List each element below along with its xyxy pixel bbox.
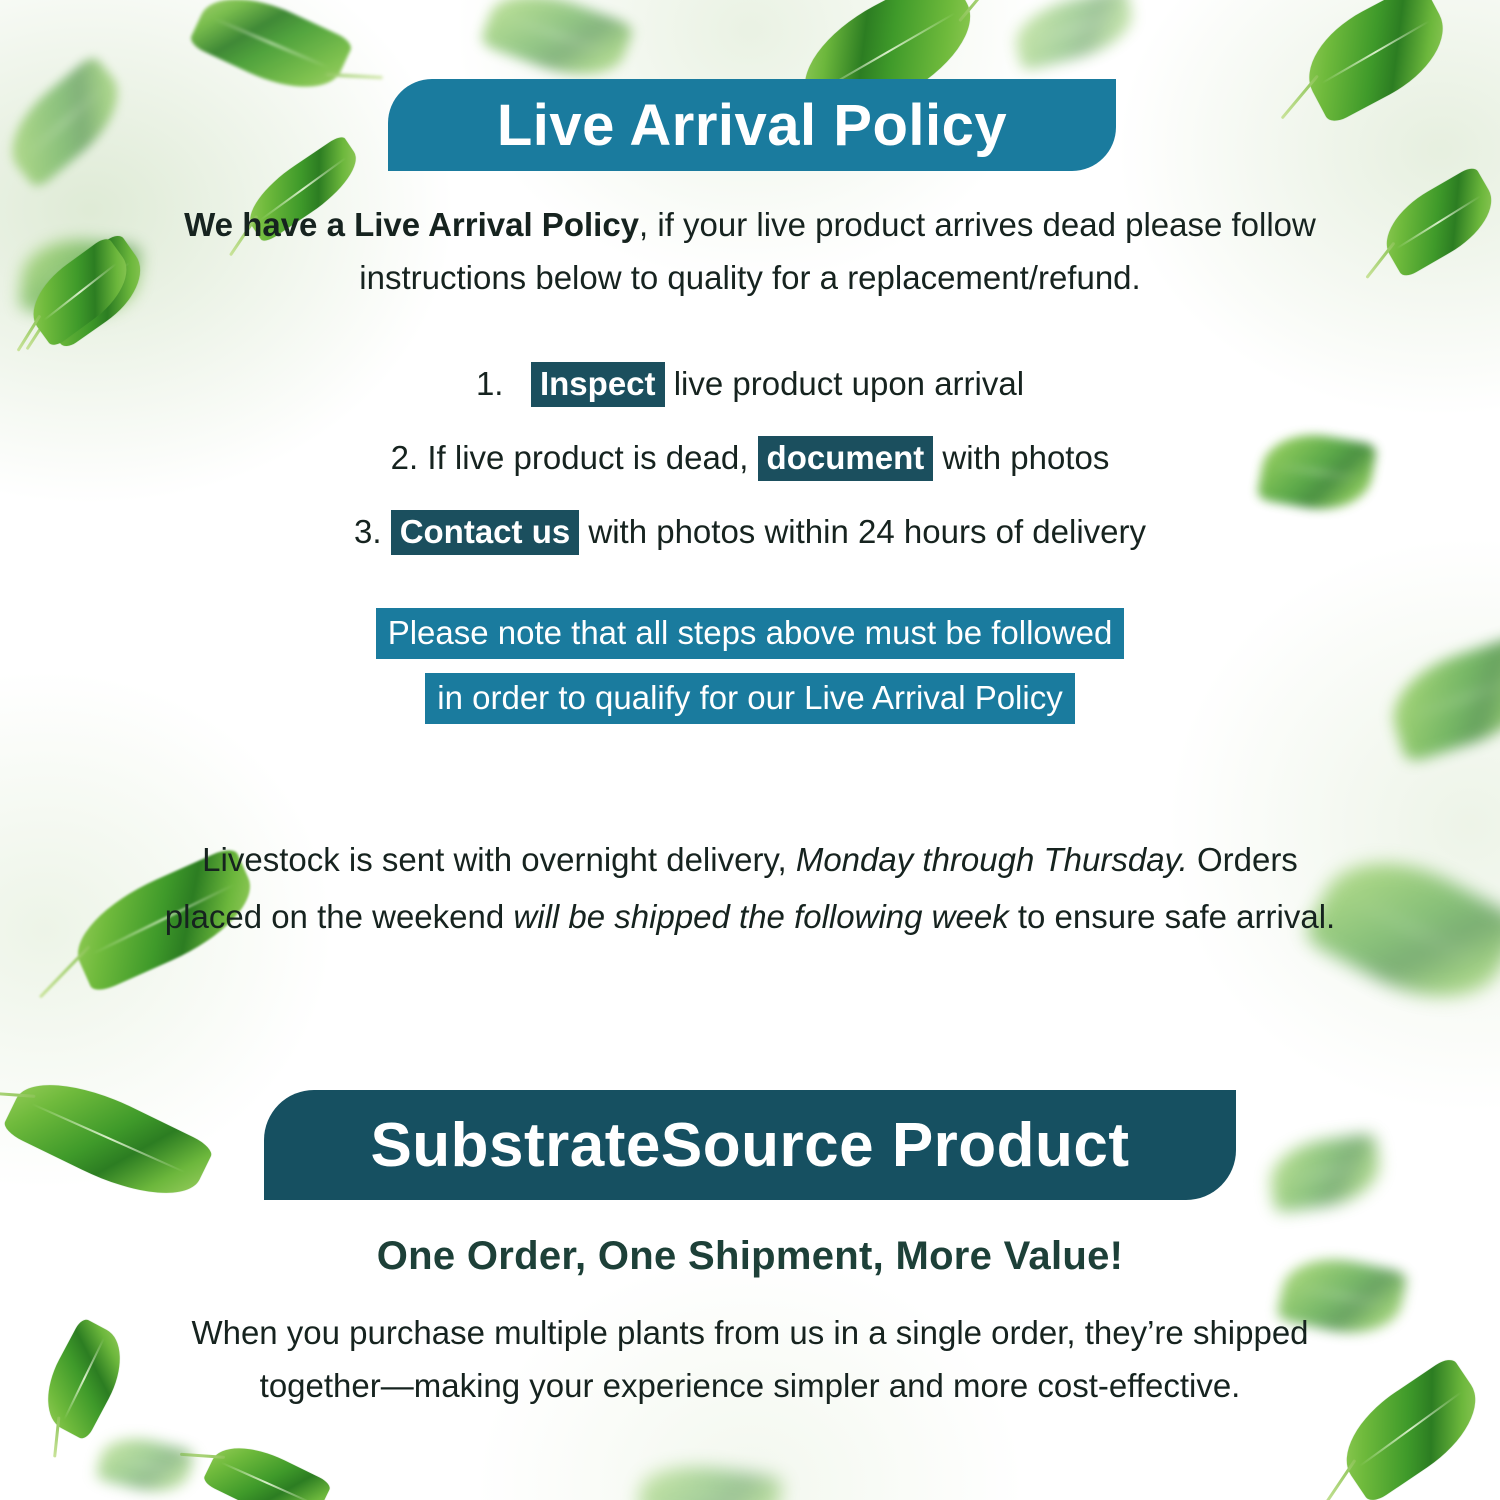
step-number: 1.: [476, 365, 504, 402]
step-highlight-document: document: [758, 436, 934, 481]
live-arrival-policy-banner: Live Arrival Policy: [388, 79, 1116, 171]
step-text: live product upon arrival: [674, 365, 1024, 402]
note-line-1: Please note that all steps above must be…: [376, 608, 1125, 659]
policy-document: Live Arrival Policy We have a Live Arriv…: [0, 0, 1500, 1500]
step-number: 3.: [354, 513, 382, 550]
livestock-text-3: to ensure safe arrival.: [1009, 898, 1336, 935]
product-tagline: One Order, One Shipment, More Value!: [0, 1234, 1500, 1279]
list-item: 3. Contact us with photos within 24 hour…: [0, 510, 1500, 555]
substratesource-product-title: SubstrateSource Product: [370, 1110, 1129, 1181]
substratesource-product-banner: SubstrateSource Product: [264, 1090, 1236, 1200]
note-line-2-wrap: in order to qualify for our Live Arrival…: [0, 673, 1500, 724]
step-highlight-contact-us[interactable]: Contact us: [391, 510, 580, 555]
live-arrival-policy-title: Live Arrival Policy: [497, 92, 1007, 159]
policy-note-block: Please note that all steps above must be…: [0, 608, 1500, 738]
steps-list: 1. Inspect live product upon arrival 2. …: [0, 362, 1500, 584]
step-highlight-inspect: Inspect: [531, 362, 665, 407]
list-item: 2. If live product is dead, document wit…: [0, 436, 1500, 481]
step-text: with photos: [942, 439, 1109, 476]
livestock-text-1: Livestock is sent with overnight deliver…: [202, 841, 796, 878]
list-item: 1. Inspect live product upon arrival: [0, 362, 1500, 407]
intro-bold-lead: We have a Live Arrival Policy: [184, 206, 639, 243]
livestock-italic-2: will be shipped the following week: [513, 898, 1008, 935]
step-number: 2.: [391, 439, 419, 476]
step-text-before: If live product is dead,: [427, 439, 757, 476]
livestock-shipping-paragraph: Livestock is sent with overnight deliver…: [0, 832, 1500, 946]
intro-paragraph: We have a Live Arrival Policy, if your l…: [0, 198, 1500, 305]
note-line-1-wrap: Please note that all steps above must be…: [0, 608, 1500, 659]
note-line-2: in order to qualify for our Live Arrival…: [425, 673, 1074, 724]
livestock-italic-1: Monday through Thursday.: [796, 841, 1188, 878]
product-description-paragraph: When you purchase multiple plants from u…: [0, 1306, 1500, 1413]
step-text: with photos within 24 hours of delivery: [588, 513, 1146, 550]
